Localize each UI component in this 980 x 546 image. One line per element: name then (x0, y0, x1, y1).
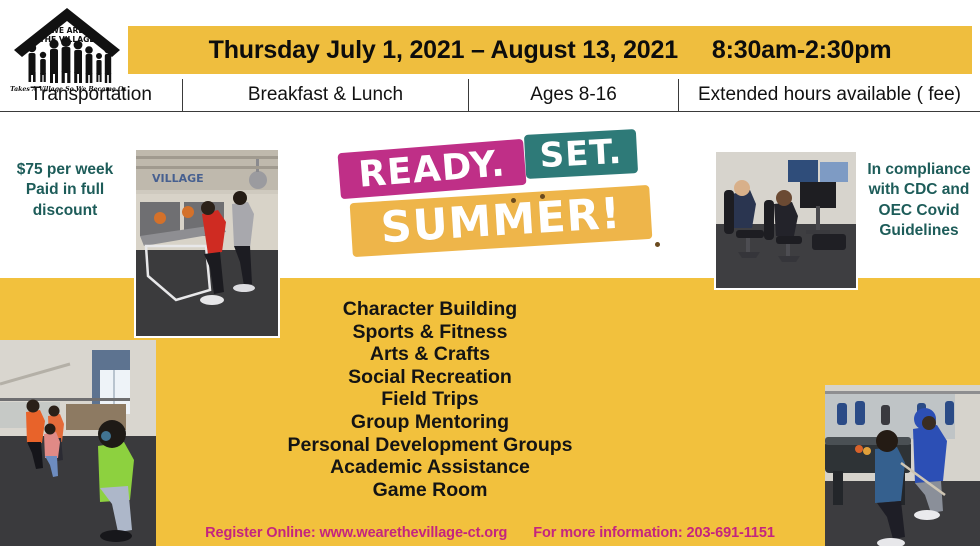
time-range-text: 8:30am-2:30pm (712, 36, 891, 65)
logo-line2-text: THE VILLAGE (39, 35, 94, 44)
set-word: SET. (524, 129, 638, 179)
feature-transportation: Transportation (0, 79, 182, 112)
confetti-dot-icon (540, 194, 545, 199)
compliance-line-1: In compliance (858, 160, 980, 180)
svg-text:VILLAGE: VILLAGE (152, 172, 204, 185)
activity-item: Personal Development Groups (190, 434, 670, 457)
activity-item: Arts & Crafts (190, 343, 670, 366)
covid-compliance-note: In compliance with CDC and OEC Covid Gui… (858, 160, 980, 242)
ready-word: READY. (337, 139, 526, 199)
compliance-line-2: with CDC and (858, 180, 980, 200)
pricing-note: $75 per week Paid in full discount (0, 160, 130, 221)
pricing-line-2: Paid in full (0, 180, 130, 200)
date-banner: Thursday July 1, 2021 – August 13, 2021 … (128, 26, 972, 74)
activities-list: Character Building Sports & Fitness Arts… (190, 298, 670, 501)
activity-item: Social Recreation (190, 366, 670, 389)
feature-breakfast-lunch: Breakfast & Lunch (182, 79, 468, 112)
compliance-line-4: Guidelines (858, 221, 980, 241)
photo-gym-activity (0, 340, 156, 546)
activity-item: Group Mentoring (190, 411, 670, 434)
activity-item: Game Room (190, 479, 670, 502)
photo-pool-table (825, 385, 980, 546)
confetti-dot-icon (655, 242, 660, 247)
activity-item: Sports & Fitness (190, 321, 670, 344)
photo-gaming-lounge (714, 150, 858, 290)
compliance-line-3: OEC Covid (858, 201, 980, 221)
activity-item: Field Trips (190, 388, 670, 411)
feature-ages: Ages 8-16 (468, 79, 678, 112)
ready-set-summer-logo: READY. SET. SUMMER! (335, 132, 665, 262)
date-range-text: Thursday July 1, 2021 – August 13, 2021 (209, 36, 678, 65)
feature-row: Transportation Breakfast & Lunch Ages 8-… (0, 79, 980, 112)
pricing-line-1: $75 per week (0, 160, 130, 180)
logo-line1-text: WE ARE (50, 26, 83, 35)
activity-item: Character Building (190, 298, 670, 321)
confetti-dot-icon (511, 198, 516, 203)
feature-extended-hours: Extended hours available ( fee) (678, 79, 980, 112)
summer-word: SUMMER! (350, 185, 653, 257)
summer-camp-flyer: WE ARE THE VILLAGE "It Takes A Village S… (0, 0, 980, 546)
pricing-line-3: discount (0, 201, 130, 221)
activity-item: Academic Assistance (190, 456, 670, 479)
